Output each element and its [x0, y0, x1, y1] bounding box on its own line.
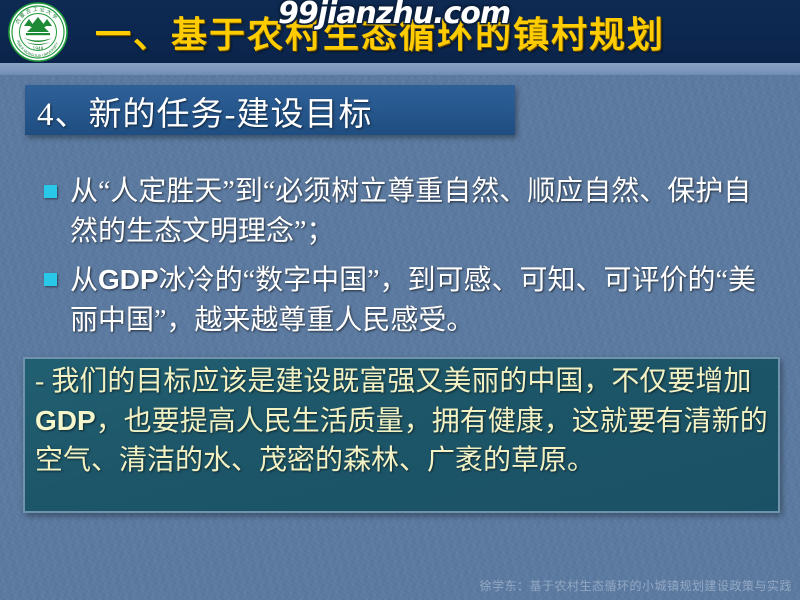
conclusion-box: - 我们的目标应该是建设既富强又美丽的中国，不仅要增加GDP，也要提高人民生活质… — [23, 357, 780, 513]
section-title-plaque: 4、新的任务-建设目标 — [25, 85, 515, 135]
body-text: 从“人定胜天”到“必须树立尊重自然、顺应自然、保护自然的生态文明理念”； — [70, 176, 751, 247]
university-seal-logo: 1948 内 蒙 古 工 业 大 学 INNER MONGOLIA UNIVER… — [7, 2, 69, 62]
bullet-square-icon — [44, 185, 57, 198]
bullet-item: 从“人定胜天”到“必须树立尊重自然、顺应自然、保护自然的生态文明理念”； — [44, 172, 764, 252]
emphasis-text: GDP — [35, 405, 96, 436]
header-accent-band — [0, 63, 800, 75]
body-text: ，也要提高人民生活质量，拥有健康，这就要有清新的空气、清洁的水、茂密的森林、广袤… — [35, 406, 768, 476]
bullet-text: 从GDP冰冷的“数字中国”，到可感、可知、可评价的“美丽中国”，越来越尊重人民感… — [70, 260, 764, 341]
section-title-text: 4、新的任务-建设目标 — [37, 87, 373, 135]
bullet-square-icon — [44, 273, 57, 286]
svg-text:1948: 1948 — [33, 46, 44, 51]
bullet-list: 从“人定胜天”到“必须树立尊重自然、顺应自然、保护自然的生态文明理念”；从GDP… — [44, 172, 764, 349]
slide-footer: 徐学东：基于农村生态循环的小城镇规划建设政策与实践 — [479, 577, 792, 594]
site-watermark: 99jianzhu.com — [278, 0, 510, 31]
body-text: 从 — [70, 265, 98, 296]
emphasis-text: GDP — [98, 264, 159, 295]
bullet-text: 从“人定胜天”到“必须树立尊重自然、顺应自然、保护自然的生态文明理念”； — [70, 172, 764, 252]
body-text: 冰冷的“数字中国”，到可感、可知、可评价的“美丽中国”，越来越尊重人民感受。 — [70, 265, 756, 336]
conclusion-text: - 我们的目标应该是建设既富强又美丽的中国，不仅要增加GDP，也要提高人民生活质… — [35, 362, 770, 480]
slide-canvas: 一、基于农村生态循环的镇村规划 1948 内 蒙 古 工 业 大 学 — [0, 0, 800, 600]
body-text: - 我们的目标应该是建设既富强又美丽的中国，不仅要增加 — [35, 366, 751, 397]
bullet-item: 从GDP冰冷的“数字中国”，到可感、可知、可评价的“美丽中国”，越来越尊重人民感… — [44, 260, 764, 341]
